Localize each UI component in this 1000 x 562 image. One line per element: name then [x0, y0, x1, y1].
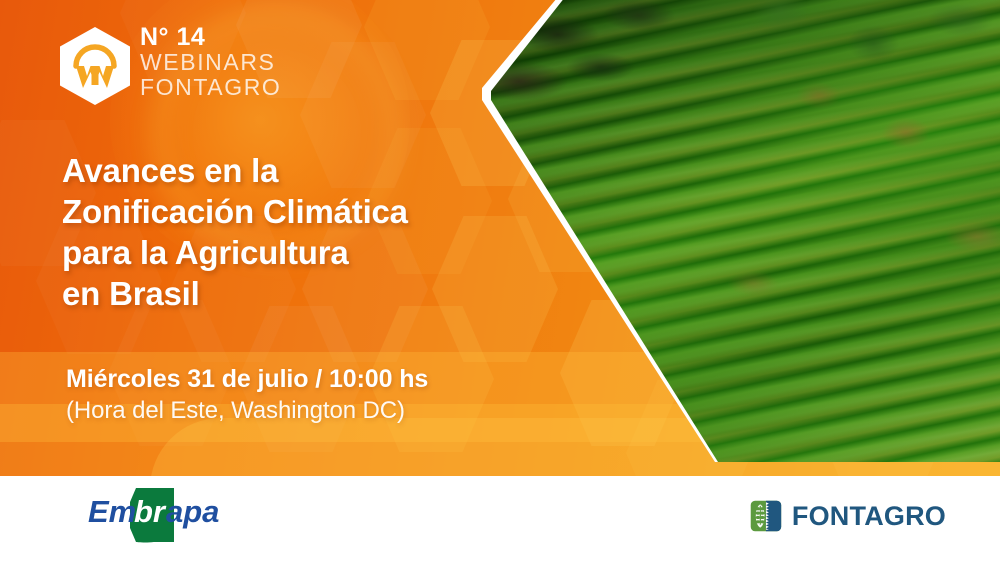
- webinar-number: N° 14: [140, 24, 320, 50]
- footer-logo-bar: Em br apa: [0, 476, 1000, 562]
- fontagro-wheat-gear-icon: [750, 494, 782, 538]
- webinar-label-line1: WEBINARS: [140, 50, 320, 75]
- webinar-label-line2: FONTAGRO: [140, 75, 320, 100]
- title-line-3: para la Agricultura: [62, 232, 532, 273]
- webinar-promo-banner: N° 14 WEBINARS FONTAGRO Avances en la Zo…: [0, 0, 1000, 562]
- event-datetime: Miércoles 31 de julio / 10:00 hs (Hora d…: [66, 363, 536, 427]
- lockup-text: N° 14 WEBINARS FONTAGRO: [140, 22, 320, 100]
- photo-panel-border: [470, 0, 1000, 462]
- photo-panel: [470, 0, 1000, 462]
- webinar-lockup: N° 14 WEBINARS FONTAGRO: [58, 22, 318, 106]
- svg-text:apa: apa: [166, 494, 219, 529]
- svg-text:br: br: [134, 494, 167, 529]
- title-line-1: Avances en la: [62, 150, 532, 191]
- fontagro-wordmark: FONTAGRO: [792, 501, 946, 532]
- hexagon-w-logo-icon: [58, 26, 132, 106]
- embrapa-leaf-icon: Em br apa: [78, 484, 228, 546]
- svg-text:Em: Em: [88, 494, 136, 529]
- embrapa-logo: Em br apa: [78, 484, 228, 546]
- fontagro-logo: FONTAGRO: [750, 492, 946, 540]
- event-timezone: (Hora del Este, Washington DC): [66, 395, 536, 427]
- banner-title: Avances en la Zonificación Climática par…: [62, 150, 532, 314]
- aerial-crop-field-photo: [470, 0, 1000, 462]
- orange-background-stage: N° 14 WEBINARS FONTAGRO Avances en la Zo…: [0, 0, 1000, 476]
- title-line-2: Zonificación Climática: [62, 191, 532, 232]
- event-date-primary: Miércoles 31 de julio / 10:00 hs: [66, 363, 536, 395]
- title-line-4: en Brasil: [62, 273, 532, 314]
